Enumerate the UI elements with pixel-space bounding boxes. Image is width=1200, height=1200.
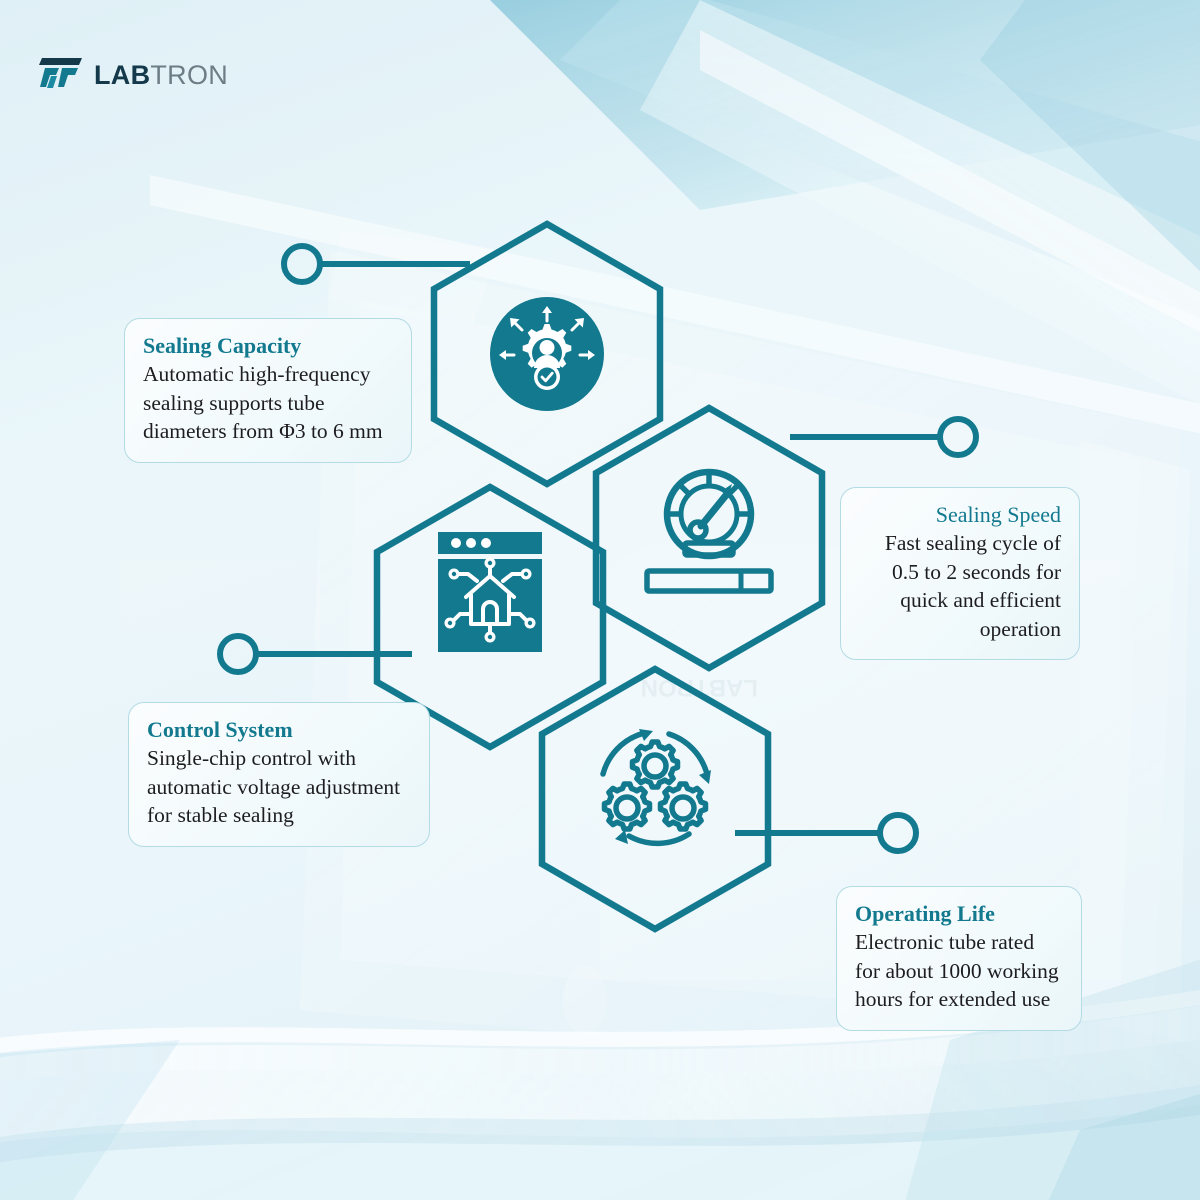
feature-title: Sealing Capacity [143,333,393,359]
feature-title: Control System [147,717,411,743]
connector-sealing-speed [790,419,976,455]
feature-body: Automatic high-frequency sealing support… [143,360,393,446]
speedometer-gauge-icon [647,472,771,591]
feature-body: Fast sealing cycle of 0.5 to 2 seconds f… [859,529,1061,643]
three-gears-rotation-icon [603,729,711,844]
feature-card-control-system: Control System Single-chip control with … [128,702,430,847]
feature-card-sealing-capacity: Sealing Capacity Automatic high-frequenc… [124,318,412,463]
feature-card-sealing-speed: Sealing Speed Fast sealing cycle of 0.5 … [840,487,1080,660]
gear-person-expand-check-icon [490,297,604,411]
feature-title: Operating Life [855,901,1063,927]
connector-operating-life [735,815,916,851]
connector-sealing-capacity [284,246,470,282]
feature-title: Sealing Speed [859,502,1061,528]
feature-card-operating-life: Operating Life Electronic tube rated for… [836,886,1082,1031]
hexagon-operating-life [542,669,768,929]
infographic-canvas: LABTRON LABTRON [0,0,1200,1200]
feature-body: Single-chip control with automatic volta… [147,744,411,830]
feature-body: Electronic tube rated for about 1000 wor… [855,928,1063,1014]
hexagon-sealing-speed [596,408,822,668]
smart-home-circuit-window-icon [438,532,542,652]
connector-control-system [220,636,412,672]
